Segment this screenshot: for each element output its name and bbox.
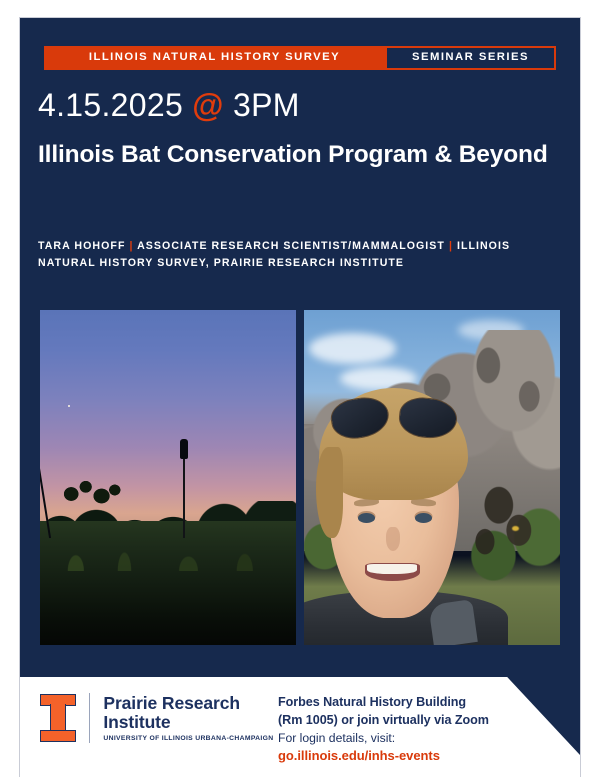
logo-wordmark: Prairie Research Institute UNIVERSITY OF… — [103, 694, 273, 743]
venue-room-and-zoom: (Rm 1005) or join virtually via Zoom — [278, 711, 528, 729]
smiling-mouth — [365, 563, 420, 581]
speaker-role: ASSOCIATE RESEARCH SCIENTIST/MAMMALOGIST — [137, 240, 445, 252]
block-i-bottom-bar — [40, 730, 76, 742]
speaker-name: TARA HOHOFF — [38, 240, 125, 252]
credit-separator-1: | — [129, 240, 133, 252]
event-date: 4.15.2025 — [38, 87, 183, 123]
block-i-stem — [50, 704, 66, 733]
hair-side-strand — [316, 447, 343, 538]
footer-band: Prairie Research Institute UNIVERSITY OF… — [20, 677, 580, 777]
speaker-credits: TARA HOHOFF | ASSOCIATE RESEARCH SCIENTI… — [38, 238, 554, 272]
bat-detector-pole-far — [183, 454, 185, 538]
page-title: Illinois Bat Conservation Program & Beyo… — [38, 141, 548, 170]
event-datetime: 4.15.2025 @ 3PM — [38, 89, 300, 121]
logo-university-line: UNIVERSITY OF ILLINOIS URBANA-CHAMPAIGN — [103, 735, 273, 742]
header-banner: ILLINOIS NATURAL HISTORY SURVEY SEMINAR … — [44, 46, 556, 70]
seminar-poster: ILLINOIS NATURAL HISTORY SURVEY SEMINAR … — [20, 18, 580, 777]
credit-separator-2: | — [449, 240, 453, 252]
event-time: 3PM — [233, 87, 300, 123]
speaker-portrait-photo — [304, 310, 560, 645]
field-vegetation — [40, 521, 296, 645]
photo-row — [40, 310, 560, 645]
login-details-label: For login details, visit: — [278, 730, 528, 748]
events-link[interactable]: go.illinois.edu/inhs-events — [278, 747, 528, 766]
venue-building: Forbes Natural History Building — [278, 693, 528, 711]
sunglass-lens-right — [397, 396, 458, 442]
logo-divider — [89, 693, 90, 743]
banner-series-label: SEMINAR SERIES — [385, 46, 556, 70]
sunglasses-icon — [331, 398, 456, 438]
avatar — [309, 377, 478, 645]
nose — [386, 527, 400, 551]
eye-right — [415, 513, 432, 523]
teeth — [367, 564, 417, 574]
prairie-research-institute-logo: Prairie Research Institute UNIVERSITY OF… — [38, 693, 273, 743]
dark-bush — [468, 471, 545, 585]
foreground-brush — [58, 478, 125, 518]
banner-organization-label: ILLINOIS NATURAL HISTORY SURVEY — [44, 46, 385, 70]
eye-left — [358, 513, 375, 523]
venue-details: Forbes Natural History Building (Rm 1005… — [278, 693, 528, 766]
backpack-strap — [428, 599, 477, 645]
logo-line-2: Institute — [103, 713, 273, 732]
twilight-field-bat-survey-photo — [40, 310, 296, 645]
illinois-block-i-icon — [38, 693, 78, 743]
at-symbol: @ — [192, 87, 224, 123]
sunglass-lens-left — [328, 394, 391, 443]
logo-line-1: Prairie Research — [103, 694, 273, 713]
